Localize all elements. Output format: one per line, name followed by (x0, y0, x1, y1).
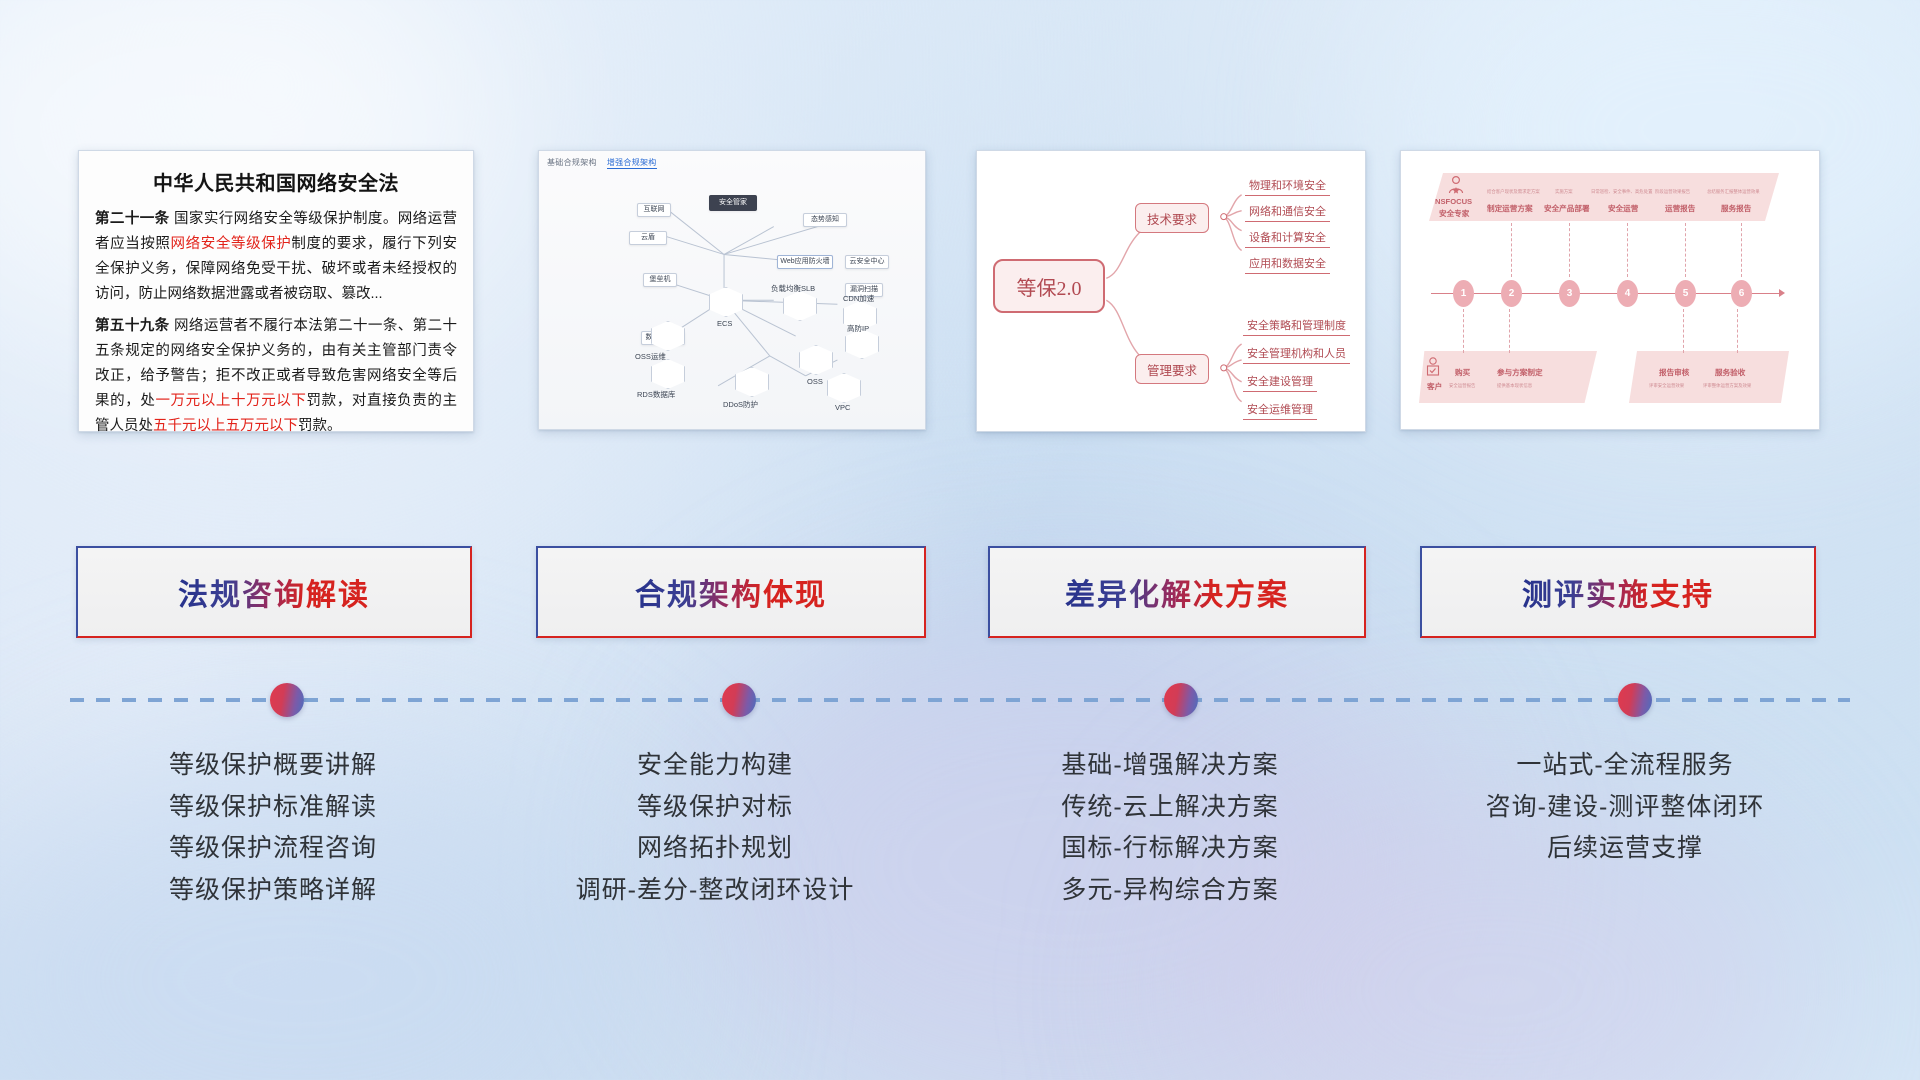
list-item: 等级保护对标 (500, 787, 930, 829)
top-step-label: 安全产品部署 (1544, 203, 1590, 214)
list-item: 安全能力构建 (500, 745, 930, 787)
timeline-dot-3[interactable] (1164, 683, 1198, 717)
list-item: 传统-云上解决方案 (940, 787, 1400, 829)
connector-dash (1685, 223, 1686, 277)
headline-label: 差异化解决方案 (1065, 570, 1289, 614)
timeline-arrow-icon (1779, 289, 1785, 297)
customer-title-label: 客户 (1427, 381, 1442, 392)
law-run-highlight: 网络安全等级保护 (171, 236, 292, 252)
law-card-title: 中华人民共和国网络安全法 (95, 167, 457, 196)
top-step-label: 运营报告 (1665, 203, 1695, 214)
law-article-label: 第五十九条 (95, 318, 170, 334)
bottom-step-sub: 安全运营报告 (1449, 383, 1475, 389)
compliance-architecture-card[interactable]: 基础合规架构增强合规架构 安全管家 互联网 (538, 150, 926, 430)
list-item: 等级保护流程咨询 (58, 828, 488, 870)
mindmap-branch-technical: 技术要求 (1135, 203, 1209, 233)
column-evaluation-support: 一站式-全流程服务 咨询-建设-测评整体闭环 后续运营支撑 (1410, 745, 1840, 870)
timeline-dot-1[interactable] (270, 683, 304, 717)
headline-label: 合规架构体现 (635, 570, 827, 614)
law-paragraph-21: 第二十一条 国家实行网络安全等级保护制度。网络运营者应当按照网络安全等级保护制度… (95, 207, 457, 307)
top-step-label: 服务报告 (1721, 203, 1751, 214)
arch-label-slb: 负载均衡SLB (771, 283, 815, 294)
mindmap-root-node: 等保2.0 (993, 259, 1105, 313)
mindmap: 等保2.0 技术要求 物理和环境安全 网络和通信安全 设备和计算安全 应用和数据… (977, 151, 1365, 431)
list-item: 一站式-全流程服务 (1410, 745, 1840, 787)
bottom-step-sub: 提供基本现状信息 (1497, 383, 1532, 389)
top-step-sub: 结合客户现状及需求定方案 (1487, 189, 1540, 195)
arch-label-anti-ddos-ip: 高防IP (847, 323, 869, 334)
headline-evaluation-support[interactable]: 测评实施支持 (1420, 546, 1816, 638)
headline-label: 测评实施支持 (1522, 570, 1714, 614)
mlps-mindmap-card[interactable]: 等保2.0 技术要求 物理和环境安全 网络和通信安全 设备和计算安全 应用和数据… (976, 150, 1366, 432)
headline-differentiated-solution[interactable]: 差异化解决方案 (988, 546, 1366, 638)
law-run-highlight: 一万元以上十万元以下 (155, 393, 306, 409)
expert-title-label: 安全专家 (1439, 208, 1469, 219)
headline-compliance-architecture[interactable]: 合规架构体现 (536, 546, 926, 638)
column-regulation-consulting: 等级保护概要讲解 等级保护标准解读 等级保护流程咨询 等级保护策略详解 (58, 745, 488, 911)
arch-node-cloud-shield: 云盾 (629, 231, 667, 245)
top-step-sub: 实施方案 (1555, 189, 1573, 195)
timeline-dot-4[interactable] (1618, 683, 1652, 717)
arch-label-vpc: VPC (835, 403, 850, 412)
list-item: 国标-行标解决方案 (940, 828, 1400, 870)
connector-dash (1463, 309, 1464, 353)
arch-label-oss-ops: OSS运维 (635, 351, 666, 362)
law-article-label: 第二十一条 (95, 211, 170, 227)
customer-person-icon (1425, 357, 1441, 379)
connector-dash (1627, 223, 1628, 277)
timeline-step-dot: 2 (1501, 280, 1522, 307)
connector-dash (1683, 309, 1684, 353)
arch-label-cdn: CDN加速 (843, 293, 874, 304)
cybersecurity-law-card[interactable]: 中华人民共和国网络安全法 第二十一条 国家实行网络安全等级保护制度。网络运营者应… (78, 150, 474, 432)
list-item: 后续运营支撑 (1410, 828, 1840, 870)
expert-org-label: NSFOCUS (1435, 197, 1472, 206)
mindmap-leaf: 安全策略和管理制度 (1243, 317, 1350, 336)
arch-node-internet: 互联网 (637, 203, 671, 217)
column-compliance-architecture: 安全能力构建 等级保护对标 网络拓扑规划 调研-差分-整改闭环设计 (500, 745, 930, 911)
expert-person-icon (1447, 175, 1465, 195)
top-step-label: 制定运营方案 (1487, 203, 1533, 214)
connector-dash (1511, 223, 1512, 277)
list-item: 咨询-建设-测评整体闭环 (1410, 787, 1840, 829)
list-item: 等级保护策略详解 (58, 870, 488, 912)
timeline-step-dot: 1 (1453, 280, 1474, 307)
customer-band-right (1629, 351, 1789, 403)
connector-dash (1741, 223, 1742, 277)
bottom-step-label: 购买 (1455, 367, 1470, 378)
list-item: 网络拓扑规划 (500, 828, 930, 870)
arch-label-ddos-protection: DDoS防护 (723, 399, 758, 410)
arch-node-security-butler: 安全管家 (709, 195, 757, 211)
arch-node-waf: Web应用防火墙 (777, 255, 833, 269)
screenshot-card-row: 中华人民共和国网络安全法 第二十一条 国家实行网络安全等级保护制度。网络运营者应… (0, 150, 1920, 440)
mindmap-branch-management: 管理要求 (1135, 354, 1209, 384)
nsfocus-service-timeline-card[interactable]: NSFOCUS 安全专家 制定运营方案 结合客户现状及需求定方案 安全产品部署 … (1400, 150, 1820, 430)
arch-node-bastion-host: 堡垒机 (643, 273, 677, 287)
bottom-step-sub: 评审整体运营方案及效果 (1703, 383, 1751, 389)
detail-columns: 等级保护概要讲解 等级保护标准解读 等级保护流程咨询 等级保护策略详解 安全能力… (0, 745, 1920, 985)
timeline-step-dot: 6 (1731, 280, 1752, 307)
arch-node-cloud-security-center: 云安全中心 (845, 255, 889, 269)
mindmap-leaf: 物理和环境安全 (1245, 177, 1330, 196)
arch-label-oss: OSS (807, 377, 823, 386)
law-run: 罚款。 (298, 418, 342, 434)
poster-stage: 中华人民共和国网络安全法 第二十一条 国家实行网络安全等级保护制度。网络运营者应… (0, 0, 1920, 1080)
top-step-sub: 阶段运营效果报告 (1655, 189, 1690, 195)
timeline-dot-2[interactable] (722, 683, 756, 717)
mindmap-leaf: 安全建设管理 (1243, 373, 1317, 392)
bottom-step-label: 报告审核 (1659, 367, 1689, 378)
timeline-step-dot: 5 (1675, 280, 1696, 307)
architecture-diagram: 基础合规架构增强合规架构 安全管家 互联网 (539, 151, 925, 429)
list-item: 等级保护概要讲解 (58, 745, 488, 787)
headline-label: 法规咨询解读 (178, 570, 370, 614)
connector-dash (1509, 309, 1510, 353)
bottom-step-sub: 评审安全运营效果 (1649, 383, 1684, 389)
connector-dash (1569, 223, 1570, 277)
list-item: 等级保护标准解读 (58, 787, 488, 829)
top-step-sub: 日常巡检、安全事件、高危处置 (1591, 189, 1652, 195)
timeline-step-dot: 4 (1617, 280, 1638, 307)
law-paragraph-59: 第五十九条 网络运营者不履行本法第二十一条、第二十五条规定的网络安全保护义务的，… (95, 314, 457, 439)
top-step-label: 安全运营 (1608, 203, 1638, 214)
mindmap-leaf: 设备和计算安全 (1245, 229, 1330, 248)
mindmap-leaf: 应用和数据安全 (1245, 255, 1330, 274)
list-item: 多元-异构综合方案 (940, 870, 1400, 912)
law-run-highlight: 五千元以上五万元以下 (153, 418, 298, 434)
list-item: 基础-增强解决方案 (940, 745, 1400, 787)
bottom-step-label: 服务验收 (1715, 367, 1745, 378)
column-differentiated-solution: 基础-增强解决方案 传统-云上解决方案 国标-行标解决方案 多元-异构综合方案 (940, 745, 1400, 911)
timeline-step-dot: 3 (1559, 280, 1580, 307)
top-step-sub: 总结服务汇报整体运营效果 (1707, 189, 1760, 195)
mindmap-leaf: 安全运维管理 (1243, 401, 1317, 420)
connector-dash (1737, 309, 1738, 353)
mindmap-leaf: 安全管理机构和人员 (1243, 345, 1350, 364)
bottom-step-label: 参与方案制定 (1497, 367, 1543, 378)
dashed-timeline (70, 698, 1850, 702)
arch-label-rds: RDS数据库 (637, 389, 675, 400)
nsfocus-diagram: NSFOCUS 安全专家 制定运营方案 结合客户现状及需求定方案 安全产品部署 … (1401, 151, 1819, 429)
headline-row: 法规咨询解读 合规架构体现 差异化解决方案 测评实施支持 (0, 546, 1920, 646)
arch-node-situation-awareness: 态势感知 (803, 213, 847, 227)
list-item: 调研-差分-整改闭环设计 (500, 870, 930, 912)
mindmap-leaf: 网络和通信安全 (1245, 203, 1330, 222)
headline-regulation-consulting[interactable]: 法规咨询解读 (76, 546, 472, 638)
arch-label-ecs: ECS (717, 319, 732, 328)
